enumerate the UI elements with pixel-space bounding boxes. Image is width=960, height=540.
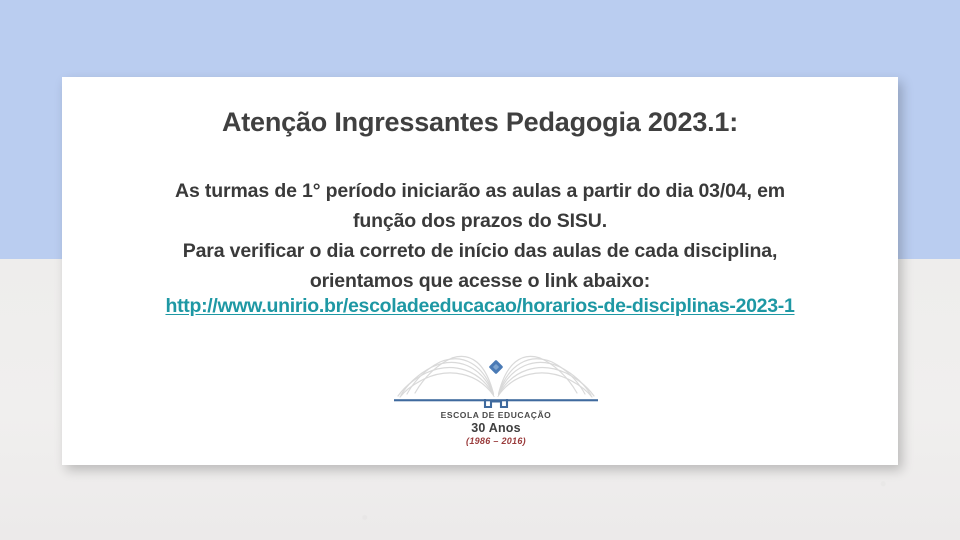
logo-caption-line-3: (1986 – 2016) [390,435,602,448]
body-line-1: As turmas de 1° período iniciarão as aul… [80,176,880,206]
announcement-body: As turmas de 1° período iniciarão as aul… [80,176,880,296]
page-title: Atenção Ingressantes Pedagogia 2023.1: [62,107,898,138]
body-line-2: função dos prazos do SISU. [80,206,880,236]
logo-caption: ESCOLA DE EDUCAÇÃO 30 Anos (1986 – 2016) [390,410,602,448]
schedule-link[interactable]: http://www.unirio.br/escoladeeducacao/ho… [165,295,794,317]
logo-caption-line-2: 30 Anos [390,421,602,435]
school-logo: ESCOLA DE EDUCAÇÃO 30 Anos (1986 – 2016) [390,349,602,457]
card-content: Atenção Ingressantes Pedagogia 2023.1: A… [62,77,898,465]
logo-caption-line-1: ESCOLA DE EDUCAÇÃO [390,410,602,421]
body-line-4: orientamos que acesse o link abaixo: [80,266,880,296]
open-book-icon [390,349,602,411]
link-row: http://www.unirio.br/escoladeeducacao/ho… [62,295,898,318]
announcement-card: Atenção Ingressantes Pedagogia 2023.1: A… [62,77,898,465]
slide-canvas: Atenção Ingressantes Pedagogia 2023.1: A… [0,0,960,540]
body-line-3: Para verificar o dia correto de início d… [80,236,880,266]
